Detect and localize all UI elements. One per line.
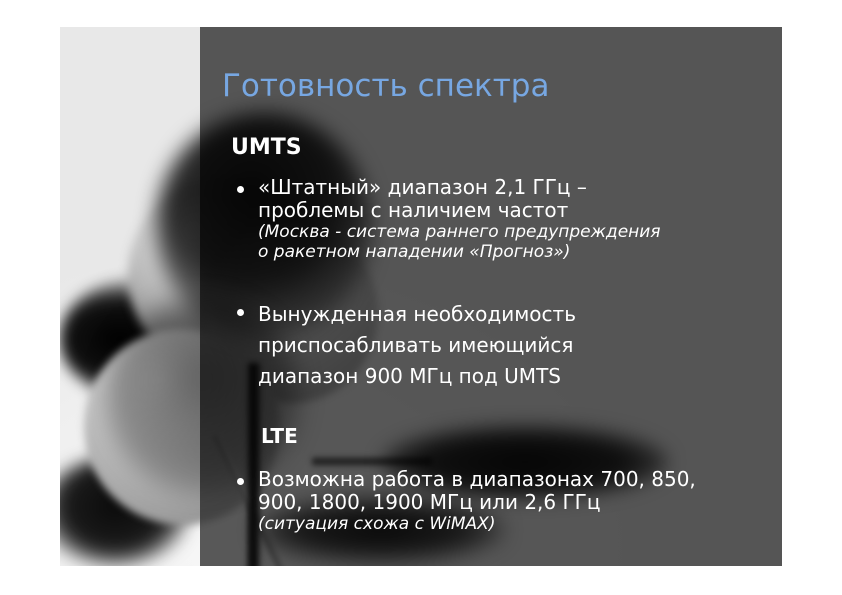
section-heading-umts: UMTS bbox=[231, 135, 302, 161]
bullet-main-text: Возможна работа в диапазонах 700, 850, 9… bbox=[258, 467, 696, 514]
page-title: Готовность спектра bbox=[222, 68, 549, 104]
bullet-dot-icon bbox=[237, 478, 244, 485]
bullet-main-text: Вынужденная необходимость приспосабливат… bbox=[258, 302, 576, 388]
list-item: «Штатный» диапазон 2,1 ГГц – проблемы с … bbox=[237, 176, 797, 262]
section-heading-lte: LTE bbox=[261, 423, 298, 449]
bullet-dot-icon bbox=[237, 309, 244, 316]
list-item: Вынужденная необходимость приспосабливат… bbox=[237, 299, 737, 392]
bullet-dot-icon bbox=[237, 186, 244, 193]
bullet-note-text: (Москва - система раннего предупреждения… bbox=[258, 222, 661, 262]
bullet-text-wrapper: «Штатный» диапазон 2,1 ГГц – проблемы с … bbox=[258, 176, 661, 262]
bullet-text-wrapper: Возможна работа в диапазонах 700, 850, 9… bbox=[258, 468, 696, 534]
list-item: Возможна работа в диапазонах 700, 850, 9… bbox=[237, 468, 757, 534]
slide-content: Готовность спектра UMTS «Штатный» диапаз… bbox=[0, 0, 842, 595]
bullet-main-text: «Штатный» диапазон 2,1 ГГц – проблемы с … bbox=[258, 175, 587, 222]
bullet-note-text: (ситуация схожа с WiMAX) bbox=[258, 514, 495, 534]
bullet-text-wrapper: Вынужденная необходимость приспосабливат… bbox=[258, 299, 576, 392]
slide: Готовность спектра UMTS «Штатный» диапаз… bbox=[0, 0, 842, 595]
